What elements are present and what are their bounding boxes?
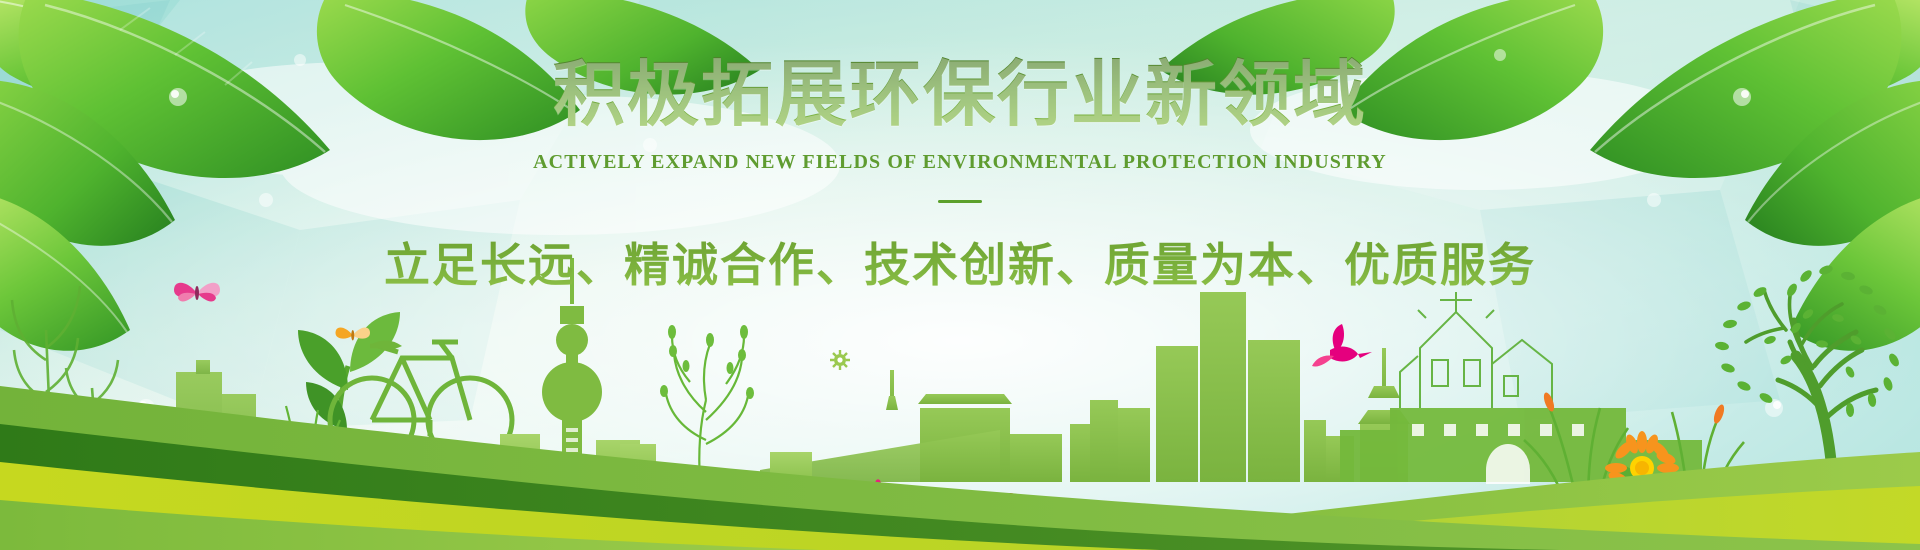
green-wave-bands xyxy=(0,0,1920,550)
eco-banner: 积极拓展环保行业新领域 ACTIVELY EXPAND NEW FIELDS O… xyxy=(0,0,1920,550)
